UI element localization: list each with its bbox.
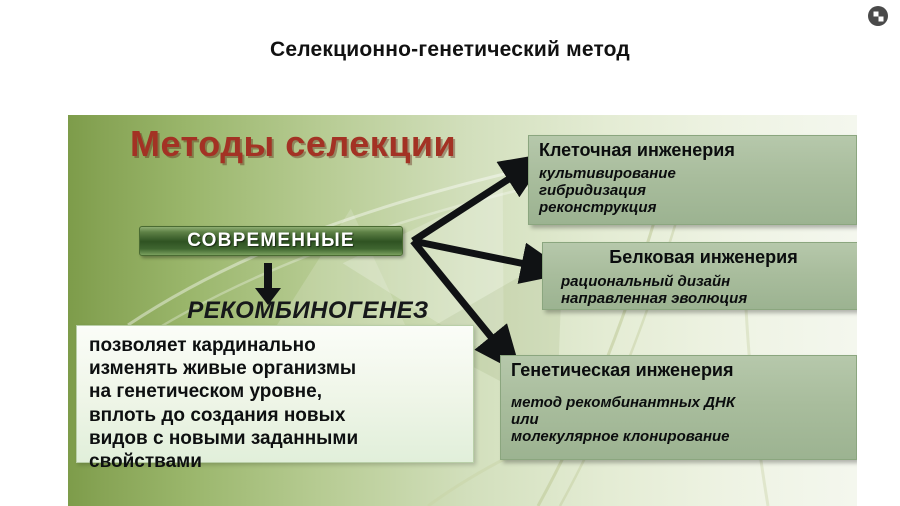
branch-title: Клеточная инженерия — [539, 140, 848, 162]
fullscreen-button[interactable] — [868, 6, 888, 26]
recombinogenesis-label: РЕКОМБИНОГЕНЕЗ — [143, 297, 473, 325]
description-box: позволяет кардинально изменять живые орг… — [76, 325, 474, 463]
branch-body: рациональный дизайн направленная эволюци… — [553, 273, 854, 308]
slide-headline: Методы селекции — [130, 123, 460, 165]
branch-body: метод рекомбинантных ДНК или молекулярно… — [511, 394, 848, 446]
branch-box-genetic-engineering[interactable]: Генетическая инженерия метод рекомбинант… — [500, 355, 857, 460]
branch-body: культивирование гибридизация реконструкц… — [539, 165, 848, 217]
branch-title: Генетическая инженерия — [511, 360, 848, 382]
branch-box-protein-engineering[interactable]: Белковая инженерия рациональный дизайн н… — [542, 242, 857, 310]
branch-title: Белковая инженерия — [553, 247, 854, 269]
expand-fullscreen-icon — [873, 11, 884, 22]
page-title: Селекционно-генетический метод — [0, 38, 900, 62]
modern-methods-chip[interactable]: СОВРЕМЕННЫЕ — [139, 226, 403, 256]
slide-canvas: Методы селекции СОВРЕМЕННЫЕ РЕКОМБИНОГЕН… — [68, 115, 857, 506]
branch-box-cell-engineering[interactable]: Клеточная инженерия культивирование гибр… — [528, 135, 857, 225]
modern-methods-label: СОВРЕМЕННЫЕ — [187, 230, 355, 252]
description-text: позволяет кардинально изменять живые орг… — [89, 334, 463, 473]
